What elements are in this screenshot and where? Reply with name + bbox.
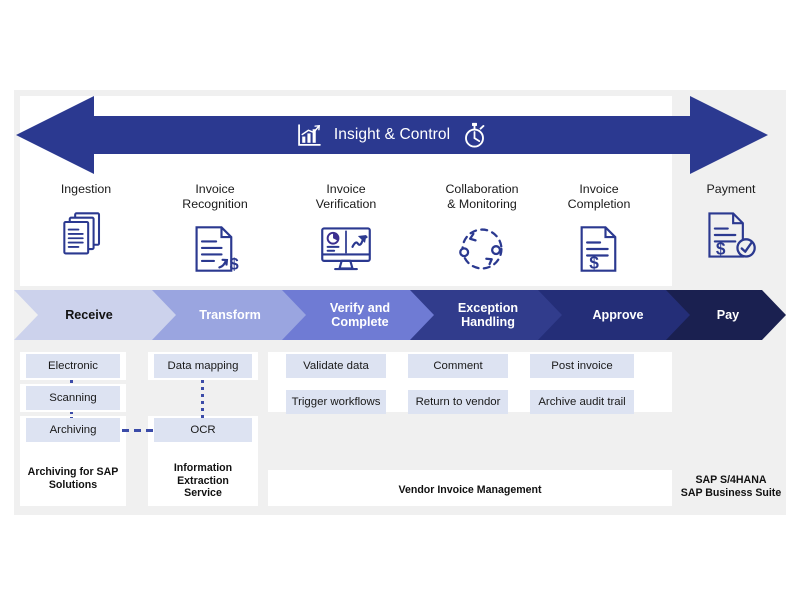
capability-data-mapping[interactable]: Data mapping bbox=[154, 354, 252, 378]
process-chevron-bar bbox=[14, 290, 786, 340]
capability-archiving[interactable]: Archiving bbox=[26, 418, 120, 442]
document-dollar-check-icon: $ bbox=[701, 206, 761, 264]
document-arrow-dollar-icon: $ bbox=[185, 220, 245, 278]
group-label-vendor-invoice-management: Vendor Invoice Management bbox=[268, 484, 672, 497]
stage-invoice-verification: Invoice Verification bbox=[282, 182, 410, 290]
svg-text:$: $ bbox=[716, 238, 726, 258]
group-label-information-extraction-service: Information Extraction Service bbox=[148, 462, 258, 500]
svg-text:$: $ bbox=[589, 253, 599, 273]
stacked-documents-icon bbox=[56, 206, 116, 264]
monitor-dashboard-icon bbox=[316, 220, 376, 278]
stage-payment-title: Payment bbox=[707, 182, 756, 197]
stage-ingestion: Ingestion bbox=[22, 182, 150, 290]
stage-invoice-completion: Invoice Completion $ bbox=[535, 182, 663, 290]
connector-archiving-ocr bbox=[122, 429, 156, 432]
capability-archive-audit-trail[interactable]: Archive audit trail bbox=[530, 390, 634, 414]
stage-invoice-recognition: Invoice Recognition $ bbox=[150, 182, 280, 290]
capability-comment[interactable]: Comment bbox=[408, 354, 508, 378]
capability-trigger-workflows[interactable]: Trigger workflows bbox=[286, 390, 386, 414]
bar-chart-trend-icon bbox=[297, 123, 322, 148]
capability-scanning[interactable]: Scanning bbox=[26, 386, 120, 410]
group-label-sap-s4hana-business-suite: SAP S/4HANA SAP Business Suite bbox=[676, 474, 786, 499]
connector-data-mapping-ocr bbox=[201, 380, 204, 418]
insight-and-control-content: Insight & Control bbox=[16, 96, 768, 174]
capability-return-to-vendor[interactable]: Return to vendor bbox=[408, 390, 508, 414]
stage-collaboration-monitoring-title: Collaboration & Monitoring bbox=[445, 182, 518, 211]
capability-post-invoice[interactable]: Post invoice bbox=[530, 354, 634, 378]
group-label-archiving-for-sap-solutions: Archiving for SAP Solutions bbox=[20, 466, 126, 491]
stage-collaboration-monitoring: Collaboration & Monitoring bbox=[412, 182, 552, 290]
stopwatch-icon bbox=[462, 122, 487, 149]
capability-validate-data[interactable]: Validate data bbox=[286, 354, 386, 378]
diagram-canvas: Insight & Control Ingestion bbox=[0, 0, 800, 600]
stage-invoice-recognition-title: Invoice Recognition bbox=[182, 182, 247, 211]
stage-invoice-completion-title: Invoice Completion bbox=[568, 182, 631, 211]
document-dollar-icon: $ bbox=[569, 220, 629, 278]
insight-and-control-label: Insight & Control bbox=[334, 126, 450, 144]
stage-invoice-verification-title: Invoice Verification bbox=[316, 182, 377, 211]
capability-electronic[interactable]: Electronic bbox=[26, 354, 120, 378]
stage-ingestion-title: Ingestion bbox=[61, 182, 111, 197]
svg-text:$: $ bbox=[230, 256, 239, 274]
stage-payment: Payment $ bbox=[676, 182, 786, 290]
capability-ocr[interactable]: OCR bbox=[154, 418, 252, 442]
dashed-circle-nodes-icon bbox=[452, 220, 512, 278]
chevron-receive-shape bbox=[14, 290, 176, 340]
